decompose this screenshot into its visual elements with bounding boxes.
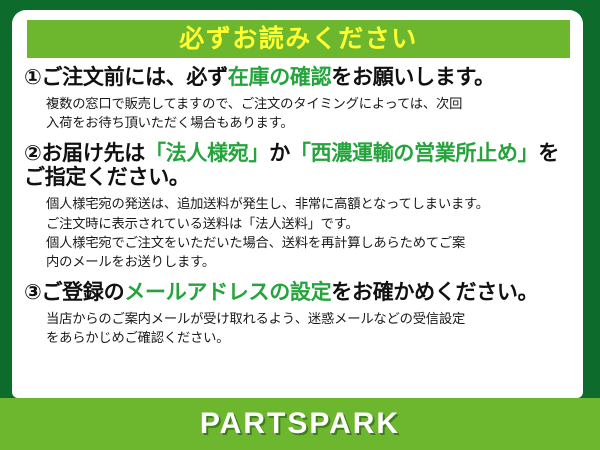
highlighted-phrase: 「法人様宛」 xyxy=(145,142,269,165)
heading-text: をお確かめください。 xyxy=(331,281,538,304)
notice-item-marker: ② xyxy=(24,142,41,165)
highlighted-phrase: メールアドレスの設定 xyxy=(124,281,331,304)
notice-item: ②お届け先は「法人様宛」か「西濃運輸の営業所止め」をご指定ください。個人様宅宛の… xyxy=(24,142,573,272)
page-title: 必ずお読みください xyxy=(179,27,418,52)
description-line: 複数の窓口で販売してますので、ご注文のタイミングによっては、次回 xyxy=(46,94,573,113)
notice-item-heading: ②お届け先は「法人様宛」か「西濃運輸の営業所止め」をご指定ください。 xyxy=(24,142,573,192)
header-banner: 必ずお読みください xyxy=(27,20,570,58)
notice-item-heading: ①ご注文前には、必ず在庫の確認をお願いします。 xyxy=(24,66,573,91)
notice-item-description: 当店からのご案内メールが受け取れるよう、迷惑メールなどの受信設定をあらかじめご確… xyxy=(24,309,573,348)
heading-text: か xyxy=(269,142,290,165)
notice-item-marker: ③ xyxy=(24,281,41,304)
description-line: ご注文時に表示されている送料は「法人送料」です。 xyxy=(46,214,573,233)
notice-card: 必ずお読みください ①ご注文前には、必ず在庫の確認をお願いします。複数の窓口で販… xyxy=(0,0,600,450)
notice-item: ③ご登録のメールアドレスの設定をお確かめください。当店からのご案内メールが受け取… xyxy=(24,281,573,348)
heading-text: ご注文前には、必ず xyxy=(41,66,227,89)
description-line: 当店からのご案内メールが受け取れるよう、迷惑メールなどの受信設定 xyxy=(46,309,573,328)
heading-text: をお願いします。 xyxy=(331,66,495,89)
notice-item-description: 複数の窓口で販売してますので、ご注文のタイミングによっては、次回入荷をお待ち頂い… xyxy=(24,94,573,133)
description-line: 内のメールをお送りします。 xyxy=(46,252,573,271)
description-line: 個人様宅宛でご注文をいただいた場合、送料を再計算しあらためてご案 xyxy=(46,233,573,252)
description-line: 個人様宅宛の発送は、追加送料が発生し、非常に高額となってしまいます。 xyxy=(46,194,573,213)
highlighted-phrase: 在庫の確認 xyxy=(228,66,332,89)
notice-items-list: ①ご注文前には、必ず在庫の確認をお願いします。複数の窓口で販売してますので、ご注… xyxy=(12,66,583,356)
footer-band: PARTSPARK xyxy=(0,398,600,450)
notice-item-heading: ③ご登録のメールアドレスの設定をお確かめください。 xyxy=(24,281,573,306)
description-line: 入荷をお待ち頂いただく場合もあります。 xyxy=(46,113,573,132)
white-panel: 必ずお読みください ①ご注文前には、必ず在庫の確認をお願いします。複数の窓口で販… xyxy=(12,10,583,398)
heading-text: お届け先は xyxy=(41,142,145,165)
notice-item-marker: ① xyxy=(24,66,41,89)
heading-text: ご登録の xyxy=(41,281,124,304)
description-line: をあらかじめご確認ください。 xyxy=(46,328,573,347)
notice-item: ①ご注文前には、必ず在庫の確認をお願いします。複数の窓口で販売してますので、ご注… xyxy=(24,66,573,133)
brand-logo: PARTSPARK xyxy=(200,409,400,439)
highlighted-phrase: 「西濃運輸の営業所止め」 xyxy=(290,142,538,165)
notice-item-description: 個人様宅宛の発送は、追加送料が発生し、非常に高額となってしまいます。ご注文時に表… xyxy=(24,194,573,272)
